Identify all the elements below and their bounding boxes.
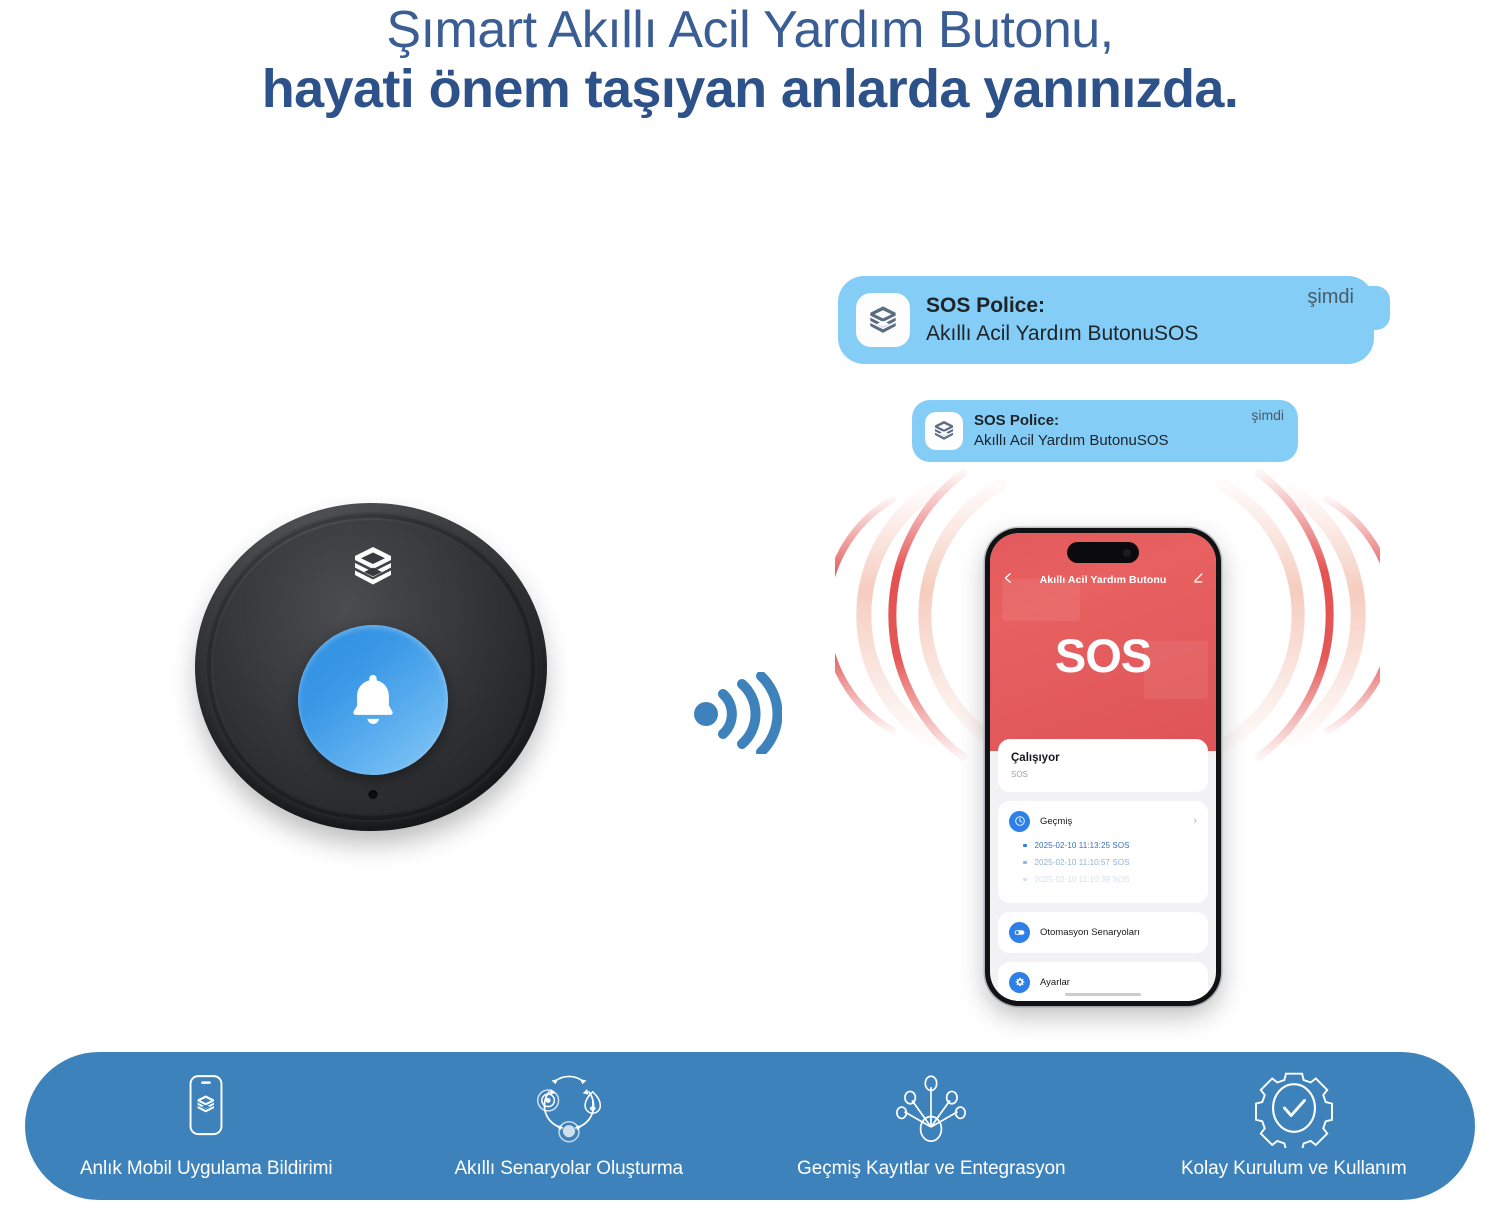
notification-banner-2[interactable]: SOS Police: Akıllı Acil Yardım ButonuSOS… bbox=[912, 400, 1298, 462]
chevron-right-icon[interactable]: › bbox=[1193, 815, 1197, 827]
headline-line-2: hayati önem taşıyan anlarda yanınızda. bbox=[0, 58, 1500, 122]
page-title: Şımart Akıllı Acil Yardım Butonu, hayati… bbox=[0, 0, 1500, 122]
app-title: Akıllı Acil Yardım Butonu bbox=[1014, 574, 1192, 586]
list-item[interactable]: 2025-02-10 11:13:25 SOS bbox=[1023, 841, 1197, 850]
automation-scenarios-icon bbox=[528, 1072, 610, 1144]
history-entry: 2025-02-10 11:10:57 SOS bbox=[1035, 858, 1130, 867]
sos-alert-label: SOS bbox=[990, 628, 1216, 683]
history-entry: 2025-02-10 11:10:39 SOS bbox=[1035, 875, 1130, 884]
home-indicator bbox=[1065, 993, 1141, 997]
bullet-icon bbox=[1023, 878, 1027, 882]
notification-text: SOS Police: Akıllı Acil Yardım ButonuSOS bbox=[974, 412, 1251, 450]
history-card[interactable]: Geçmiş › 2025-02-10 11:13:25 SOS 2025-02… bbox=[998, 801, 1208, 903]
history-header[interactable]: Geçmiş › bbox=[1009, 811, 1197, 832]
settings-label: Ayarlar bbox=[1040, 977, 1197, 988]
feature-label: Kolay Kurulum ve Kullanım bbox=[1181, 1158, 1407, 1180]
sos-bell-button[interactable] bbox=[298, 625, 448, 775]
status-card[interactable]: Çalışıyor SOS bbox=[998, 739, 1208, 792]
feature-label: Akıllı Senaryolar Oluşturma bbox=[454, 1158, 683, 1180]
app-content: Çalışıyor SOS Geçmiş › bbox=[990, 739, 1216, 1001]
notification-body: Akıllı Acil Yardım ButonuSOS bbox=[926, 320, 1307, 348]
notification-timestamp: şimdi bbox=[1251, 407, 1284, 423]
wifi-signal-icon bbox=[690, 672, 782, 754]
feature-label: Anlık Mobil Uygulama Bildirimi bbox=[80, 1158, 333, 1180]
bullet-icon bbox=[1023, 844, 1027, 848]
microphone-hole-icon bbox=[368, 790, 377, 799]
notification-app-icon bbox=[856, 293, 910, 347]
bullet-icon bbox=[1023, 861, 1027, 865]
simart-logo-icon bbox=[349, 545, 397, 589]
feature-item-easy-setup: Kolay Kurulum ve Kullanım bbox=[1113, 1072, 1476, 1180]
app-navbar: Akıllı Acil Yardım Butonu bbox=[990, 567, 1216, 593]
phone-mockup: Akıllı Acil Yardım Butonu SOS Çalışıyor … bbox=[985, 528, 1221, 1006]
notification-app-icon bbox=[925, 412, 963, 450]
front-camera-icon bbox=[1123, 549, 1131, 557]
notification-text: SOS Police: Akıllı Acil Yardım ButonuSOS bbox=[926, 293, 1307, 348]
feature-item-smart-scenarios: Akıllı Senaryolar Oluşturma bbox=[388, 1072, 751, 1180]
gear-icon bbox=[1009, 972, 1030, 993]
feature-bar: Anlık Mobil Uygulama Bildirimi bbox=[25, 1052, 1475, 1200]
pencil-edit-icon[interactable] bbox=[1192, 571, 1204, 589]
network-records-icon bbox=[891, 1072, 971, 1144]
status-title: Çalışıyor bbox=[1011, 751, 1195, 766]
automation-scenarios-row[interactable]: Otomasyon Senaryoları bbox=[998, 912, 1208, 953]
toggle-switch-icon bbox=[1009, 922, 1030, 943]
sos-button-device bbox=[185, 495, 560, 845]
automation-scenarios-label: Otomasyon Senaryoları bbox=[1040, 927, 1197, 938]
phone-screen: Akıllı Acil Yardım Butonu SOS Çalışıyor … bbox=[990, 533, 1216, 1001]
feature-label: Geçmiş Kayıtlar ve Entegrasyon bbox=[797, 1158, 1065, 1180]
notification-title: SOS Police: bbox=[926, 293, 1307, 320]
history-list: 2025-02-10 11:13:25 SOS 2025-02-10 11:10… bbox=[1009, 841, 1197, 884]
clock-icon bbox=[1009, 811, 1030, 832]
dynamic-island bbox=[1067, 542, 1139, 563]
feature-item-history-integration: Geçmiş Kayıtlar ve Entegrasyon bbox=[750, 1072, 1113, 1180]
list-item[interactable]: 2025-02-10 11:10:57 SOS bbox=[1023, 858, 1197, 867]
notification-banner-1[interactable]: SOS Police: Akıllı Acil Yardım ButonuSOS… bbox=[838, 276, 1374, 364]
bell-icon bbox=[342, 669, 404, 731]
feature-item-mobile-notification: Anlık Mobil Uygulama Bildirimi bbox=[25, 1072, 388, 1180]
sos-alert-screen: Akıllı Acil Yardım Butonu SOS bbox=[990, 533, 1216, 751]
notification-timestamp: şimdi bbox=[1307, 286, 1354, 309]
back-chevron-icon[interactable] bbox=[1002, 571, 1014, 589]
mobile-phone-notification-icon bbox=[177, 1072, 235, 1144]
headline-line-1: Şımart Akıllı Acil Yardım Butonu, bbox=[0, 0, 1500, 58]
list-item[interactable]: 2025-02-10 11:10:39 SOS bbox=[1023, 875, 1197, 884]
history-label: Geçmiş bbox=[1040, 816, 1193, 827]
gear-check-icon bbox=[1254, 1072, 1334, 1144]
history-entry: 2025-02-10 11:13:25 SOS bbox=[1035, 841, 1130, 850]
promo-page: Şımart Akıllı Acil Yardım Butonu, hayati… bbox=[0, 0, 1500, 1212]
notification-body: Akıllı Acil Yardım ButonuSOS bbox=[974, 431, 1251, 451]
notification-title: SOS Police: bbox=[974, 412, 1251, 431]
status-subtitle: SOS bbox=[1011, 770, 1195, 779]
